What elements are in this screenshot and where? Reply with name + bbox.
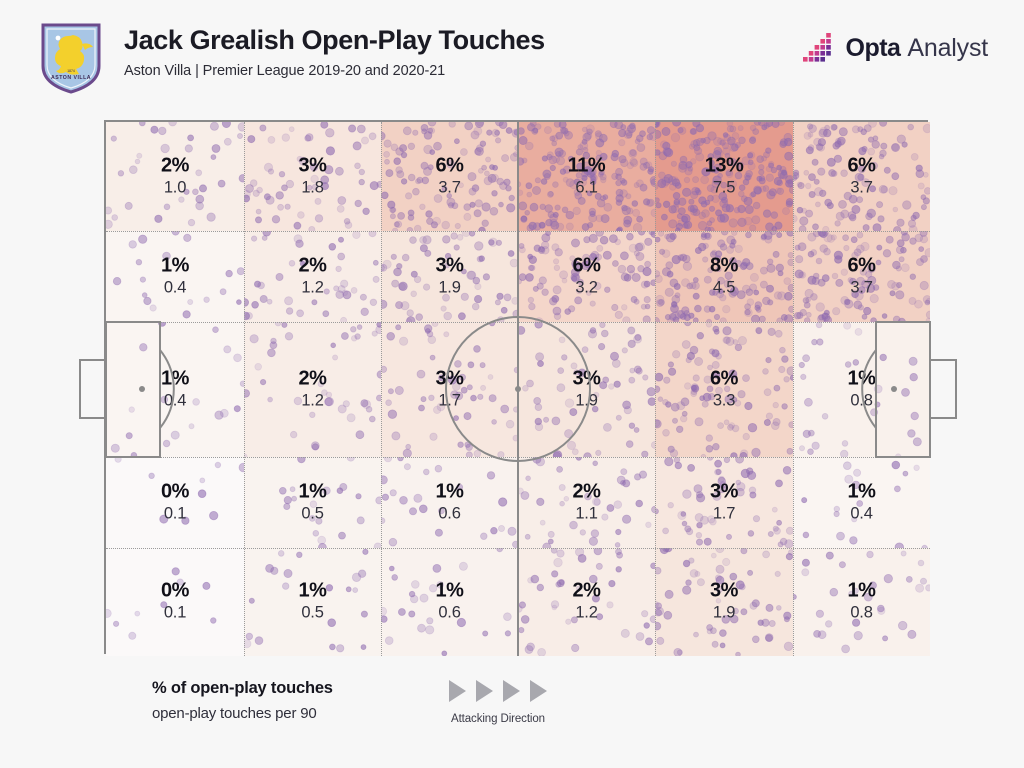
touch-dots bbox=[106, 548, 244, 656]
legend-block: % of open-play touches open-play touches… bbox=[152, 679, 333, 722]
grid-line-vertical bbox=[793, 122, 794, 656]
attacking-direction-block: Attacking Direction bbox=[449, 680, 547, 725]
svg-text:1874: 1874 bbox=[67, 69, 75, 73]
touch-dots bbox=[655, 231, 793, 322]
heat-cell-r4-c0: 0%0.1 bbox=[106, 548, 244, 656]
heat-cell-r2-c1: 2%1.2 bbox=[244, 322, 381, 457]
touch-dots bbox=[381, 322, 518, 457]
touch-dots bbox=[381, 122, 518, 231]
svg-text:ASTON VILLA: ASTON VILLA bbox=[51, 75, 91, 81]
touch-dots bbox=[381, 548, 518, 656]
touch-dots bbox=[518, 122, 655, 231]
heat-cell-r0-c0: 2%1.0 bbox=[106, 122, 244, 231]
brand-primary: Opta bbox=[846, 34, 901, 62]
grid-line-vertical bbox=[655, 122, 656, 656]
heat-cell-r4-c1: 1%0.5 bbox=[244, 548, 381, 656]
heat-cell-r0-c1: 3%1.8 bbox=[244, 122, 381, 231]
grid-line-horizontal bbox=[106, 322, 930, 323]
heat-cell-r0-c2: 6%3.7 bbox=[381, 122, 518, 231]
touch-dots bbox=[244, 322, 381, 457]
touch-dots bbox=[518, 231, 655, 322]
touch-dots bbox=[244, 231, 381, 322]
touch-dots bbox=[793, 548, 930, 656]
touch-dots bbox=[106, 322, 244, 457]
page-subtitle: Aston Villa | Premier League 2019-20 and… bbox=[124, 63, 545, 79]
touch-dots bbox=[244, 122, 381, 231]
pitch-heatmap: 2%1.03%1.86%3.711%6.113%7.56%3.71%0.42%1… bbox=[104, 120, 928, 654]
grid-line-vertical bbox=[518, 122, 519, 656]
direction-arrows bbox=[449, 680, 547, 702]
touch-dots bbox=[518, 322, 655, 457]
heat-cell-r3-c1: 1%0.5 bbox=[244, 457, 381, 548]
heat-cell-r3-c3: 2%1.1 bbox=[518, 457, 655, 548]
legend-primary-label: % of open-play touches bbox=[152, 679, 333, 698]
touch-dots bbox=[655, 548, 793, 656]
heat-cell-r2-c0: 1%0.4 bbox=[106, 322, 244, 457]
touch-dots bbox=[518, 548, 655, 656]
heat-cell-r3-c4: 3%1.7 bbox=[655, 457, 793, 548]
touch-dots bbox=[244, 548, 381, 656]
brand-lockup: Opta Analyst bbox=[803, 33, 989, 63]
touch-dots bbox=[106, 231, 244, 322]
touch-dots bbox=[381, 457, 518, 548]
page-title: Jack Grealish Open-Play Touches bbox=[124, 26, 545, 56]
footer: % of open-play touches open-play touches… bbox=[0, 668, 1024, 768]
heat-cell-r2-c5: 1%0.8 bbox=[793, 322, 930, 457]
touch-dots bbox=[793, 122, 930, 231]
heat-cell-r1-c4: 8%4.5 bbox=[655, 231, 793, 322]
brand-secondary: Analyst bbox=[907, 34, 988, 62]
heat-cell-r4-c5: 1%0.8 bbox=[793, 548, 930, 656]
brand-text: Opta Analyst bbox=[846, 36, 989, 61]
touch-dots bbox=[793, 322, 930, 457]
play-triangle-icon bbox=[530, 680, 547, 702]
play-triangle-icon bbox=[476, 680, 493, 702]
attacking-direction-label: Attacking Direction bbox=[449, 713, 547, 725]
heat-cell-r4-c3: 2%1.2 bbox=[518, 548, 655, 656]
play-triangle-icon bbox=[503, 680, 520, 702]
heat-cell-r1-c0: 1%0.4 bbox=[106, 231, 244, 322]
heat-cell-r2-c4: 6%3.3 bbox=[655, 322, 793, 457]
heat-cell-r2-c3: 3%1.9 bbox=[518, 322, 655, 457]
heat-cell-r1-c5: 6%3.7 bbox=[793, 231, 930, 322]
heat-cell-r0-c4: 13%7.5 bbox=[655, 122, 793, 231]
title-block: Jack Grealish Open-Play Touches Aston Vi… bbox=[124, 26, 545, 79]
play-triangle-icon bbox=[449, 680, 466, 702]
heat-cell-r4-c2: 1%0.6 bbox=[381, 548, 518, 656]
touch-dots bbox=[655, 122, 793, 231]
touch-dots bbox=[244, 457, 381, 548]
touch-dots bbox=[793, 457, 930, 548]
heat-cell-r1-c1: 2%1.2 bbox=[244, 231, 381, 322]
heat-cell-r1-c3: 6%3.2 bbox=[518, 231, 655, 322]
touch-dots bbox=[518, 457, 655, 548]
grid-line-vertical bbox=[244, 122, 245, 656]
touch-dots bbox=[106, 457, 244, 548]
legend-secondary-label: open-play touches per 90 bbox=[152, 705, 333, 722]
opta-bars-icon bbox=[803, 33, 837, 63]
touch-dots bbox=[106, 122, 244, 231]
heat-cell-r0-c3: 11%6.1 bbox=[518, 122, 655, 231]
heat-cell-r0-c5: 6%3.7 bbox=[793, 122, 930, 231]
heat-cell-r4-c4: 3%1.9 bbox=[655, 548, 793, 656]
aston-villa-crest-icon: ASTON VILLA 1874 bbox=[40, 22, 102, 94]
grid-line-horizontal bbox=[106, 457, 930, 458]
touch-dots bbox=[655, 322, 793, 457]
heat-cell-r2-c2: 3%1.7 bbox=[381, 322, 518, 457]
heat-cell-r3-c2: 1%0.6 bbox=[381, 457, 518, 548]
grid-line-horizontal bbox=[106, 548, 930, 549]
touch-dots bbox=[381, 231, 518, 322]
heat-cell-r3-c5: 1%0.4 bbox=[793, 457, 930, 548]
touch-dots bbox=[655, 457, 793, 548]
grid-line-vertical bbox=[381, 122, 382, 656]
heat-cell-r3-c0: 0%0.1 bbox=[106, 457, 244, 548]
touch-dots bbox=[793, 231, 930, 322]
grid-line-horizontal bbox=[106, 231, 930, 232]
heat-cell-r1-c2: 3%1.9 bbox=[381, 231, 518, 322]
header: ASTON VILLA 1874 Jack Grealish Open-Play… bbox=[0, 0, 1024, 110]
